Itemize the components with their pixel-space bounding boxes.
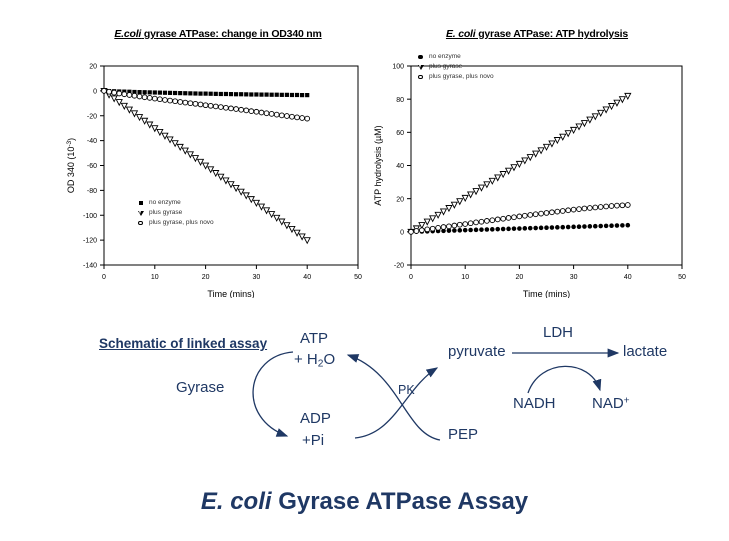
legend-label: plus gyrase, plus novo <box>427 72 494 82</box>
svg-text:-60: -60 <box>87 163 97 170</box>
legend-label: plus gyrase <box>147 208 182 218</box>
svg-text:0: 0 <box>400 229 404 236</box>
legend-left: no enzyme plus gyrase plus gyrase, plus … <box>134 198 214 228</box>
plot-svg-left: 01020304050200-20-40-60-80-100-120-140Ti… <box>58 28 378 298</box>
node-pk: PK <box>398 383 415 397</box>
svg-text:40: 40 <box>303 274 311 281</box>
arrow-pep-to-atp <box>348 355 440 440</box>
svg-text:-140: -140 <box>83 263 97 270</box>
node-pi: +Pi <box>302 432 324 449</box>
svg-text:-20: -20 <box>87 113 97 120</box>
svg-text:-20: -20 <box>394 263 404 270</box>
open-circle-icon <box>414 75 427 80</box>
svg-text:ATP hydrolysis (µM): ATP hydrolysis (µM) <box>373 125 383 205</box>
legend-item-plus-gyrase-plus-novo: plus gyrase, plus novo <box>414 72 494 82</box>
svg-text:20: 20 <box>396 196 404 203</box>
legend-item-plus-gyrase: plus gyrase <box>134 208 214 218</box>
legend-label: no enzyme <box>147 198 181 208</box>
svg-text:80: 80 <box>396 97 404 104</box>
node-atp-water: + H2O <box>294 351 335 370</box>
legend-label: no enzyme <box>427 52 461 62</box>
svg-text:-80: -80 <box>87 188 97 195</box>
node-ldh: LDH <box>543 324 573 341</box>
slide-canvas: E.coli gyrase ATPase: change in OD340 nm… <box>0 0 729 541</box>
svg-text:10: 10 <box>461 274 469 281</box>
chart-atp-hydrolysis: E. coli gyrase ATPase: ATP hydrolysis 01… <box>372 28 702 298</box>
page-title-italic: E. coli <box>201 488 272 515</box>
svg-text:40: 40 <box>624 274 632 281</box>
svg-text:60: 60 <box>396 130 404 137</box>
node-gyrase: Gyrase <box>176 379 224 396</box>
svg-text:100: 100 <box>392 64 404 71</box>
arrow-nadh-to-nad <box>528 366 600 393</box>
svg-text:-100: -100 <box>83 213 97 220</box>
legend-item-no-enzyme: no enzyme <box>134 198 214 208</box>
arrow-adp-to-pyruvate <box>355 368 437 438</box>
chart-od340-change: E.coli gyrase ATPase: change in OD340 nm… <box>58 28 378 298</box>
node-nadh: NADH <box>513 395 556 412</box>
legend-item-plus-gyrase-plus-novo: plus gyrase, plus novo <box>134 218 214 228</box>
svg-text:Time (mins): Time (mins) <box>523 289 570 298</box>
open-triangle-down-icon <box>414 65 427 70</box>
page-title: E. coli Gyrase ATPase Assay <box>0 488 729 516</box>
node-pep: PEP <box>448 426 478 443</box>
svg-text:-40: -40 <box>87 138 97 145</box>
node-pyruvate: pyruvate <box>448 343 506 360</box>
node-atp: ATP <box>300 330 328 347</box>
svg-text:20: 20 <box>516 274 524 281</box>
svg-text:Time (mins): Time (mins) <box>207 289 254 298</box>
node-nad-plus: NAD+ <box>592 395 630 412</box>
svg-text:40: 40 <box>396 163 404 170</box>
svg-text:0: 0 <box>102 274 106 281</box>
filled-square-icon <box>134 201 147 205</box>
legend-label: plus gyrase <box>427 62 462 72</box>
svg-text:OD 340 (10-3): OD 340 (10-3) <box>66 138 76 193</box>
open-circle-icon <box>134 221 147 226</box>
svg-text:50: 50 <box>678 274 686 281</box>
schematic-linked-assay: Schematic of linked assay Gyrase ATP + H… <box>0 318 729 483</box>
legend-item-plus-gyrase: plus gyrase <box>414 62 494 72</box>
svg-text:20: 20 <box>89 64 97 71</box>
node-lactate: lactate <box>623 343 667 360</box>
svg-text:10: 10 <box>151 274 159 281</box>
legend-label: plus gyrase, plus novo <box>147 218 214 228</box>
arrow-gyrase-atp-to-adp <box>253 352 293 436</box>
node-adp: ADP <box>300 410 331 427</box>
svg-text:20: 20 <box>202 274 210 281</box>
legend-right: no enzyme plus gyrase plus gyrase, plus … <box>414 52 494 82</box>
filled-circle-icon <box>414 55 427 60</box>
svg-text:0: 0 <box>93 88 97 95</box>
page-title-rest: Gyrase ATPase Assay <box>272 488 529 515</box>
svg-text:50: 50 <box>354 274 362 281</box>
svg-text:30: 30 <box>253 274 261 281</box>
svg-text:30: 30 <box>570 274 578 281</box>
schematic-heading: Schematic of linked assay <box>99 336 267 351</box>
open-triangle-down-icon <box>134 211 147 216</box>
legend-item-no-enzyme: no enzyme <box>414 52 494 62</box>
plot-area-left: 01020304050200-20-40-60-80-100-120-140Ti… <box>58 28 378 298</box>
svg-text:-120: -120 <box>83 238 97 245</box>
svg-text:0: 0 <box>409 274 413 281</box>
